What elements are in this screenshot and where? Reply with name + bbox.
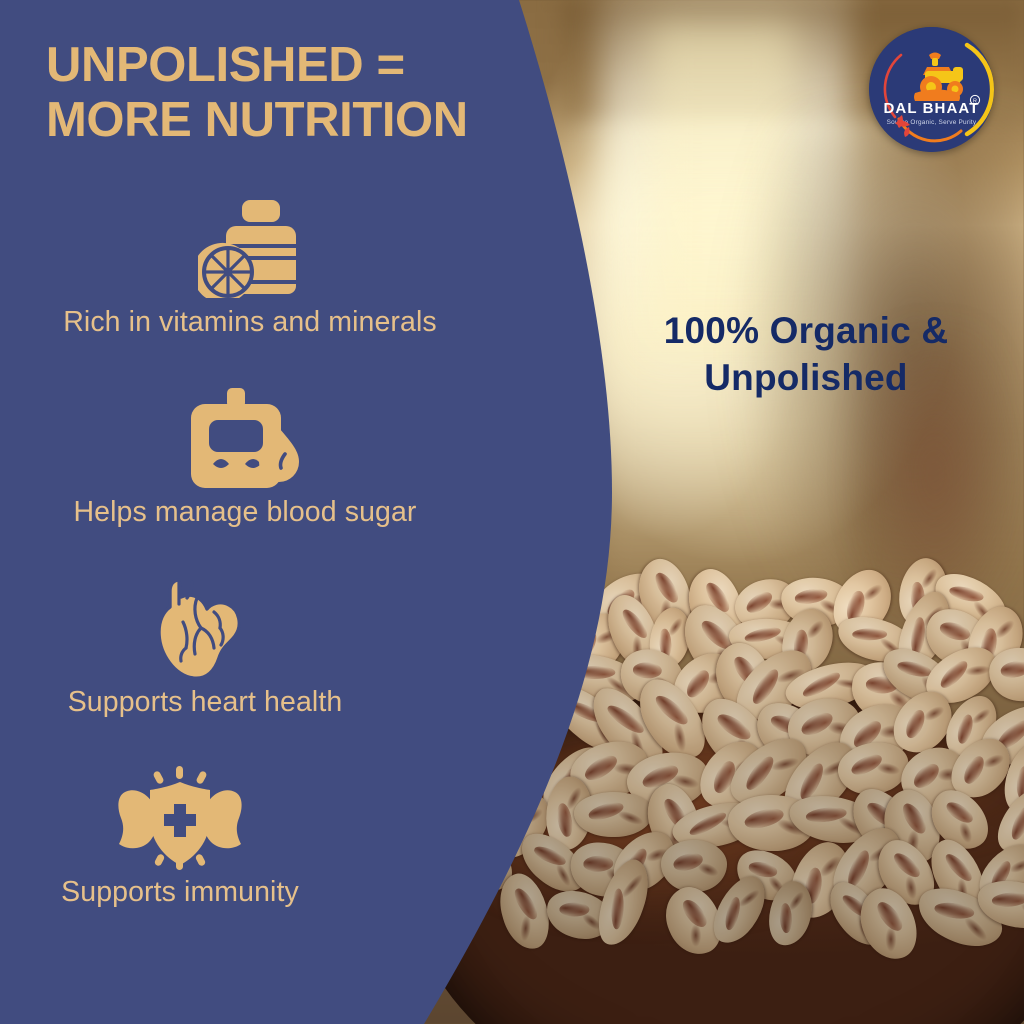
benefit-item-vitamins: Rich in vitamins and minerals — [0, 196, 560, 386]
svg-text:R: R — [973, 99, 977, 105]
benefit-label-immunity: Supports immunity — [0, 876, 360, 909]
vitamin-bottle-citrus-icon — [10, 196, 490, 300]
organic-claim-line-2: Unpolished — [600, 355, 1012, 402]
benefit-item-blood-sugar: Helps manage blood sugar — [0, 386, 560, 576]
brand-logo[interactable]: DAL BHAAT Source Organic, Serve Purity R — [869, 27, 994, 152]
benefit-label-vitamins: Rich in vitamins and minerals — [10, 306, 490, 339]
promotional-poster: UNPOLISHED = MORE NUTRITION — [0, 0, 1024, 1024]
benefit-label-blood-sugar: Helps manage blood sugar — [20, 496, 470, 529]
headline-line-1: UNPOLISHED = — [46, 38, 586, 93]
headline-line-2: MORE NUTRITION — [46, 93, 586, 148]
benefit-label-heart: Supports heart health — [0, 686, 410, 719]
bean — [661, 840, 728, 893]
page-title: UNPOLISHED = MORE NUTRITION — [46, 38, 586, 148]
organic-claim-line-1: 100% Organic & — [600, 308, 1012, 355]
organic-claim-headline: 100% Organic & Unpolished — [600, 308, 1012, 402]
benefit-item-immunity: Supports immunity — [0, 766, 560, 956]
left-content-column: UNPOLISHED = MORE NUTRITION — [0, 0, 620, 1024]
svg-text:DAL BHAAT: DAL BHAAT — [883, 100, 979, 117]
benefit-item-heart: Supports heart health — [0, 576, 560, 766]
shield-cross-muscle-arms-icon — [0, 766, 360, 870]
glucose-meter-blood-drop-icon — [20, 386, 470, 490]
benefits-list: Rich in vitamins and minerals — [0, 196, 560, 956]
anatomical-heart-icon — [0, 576, 410, 680]
